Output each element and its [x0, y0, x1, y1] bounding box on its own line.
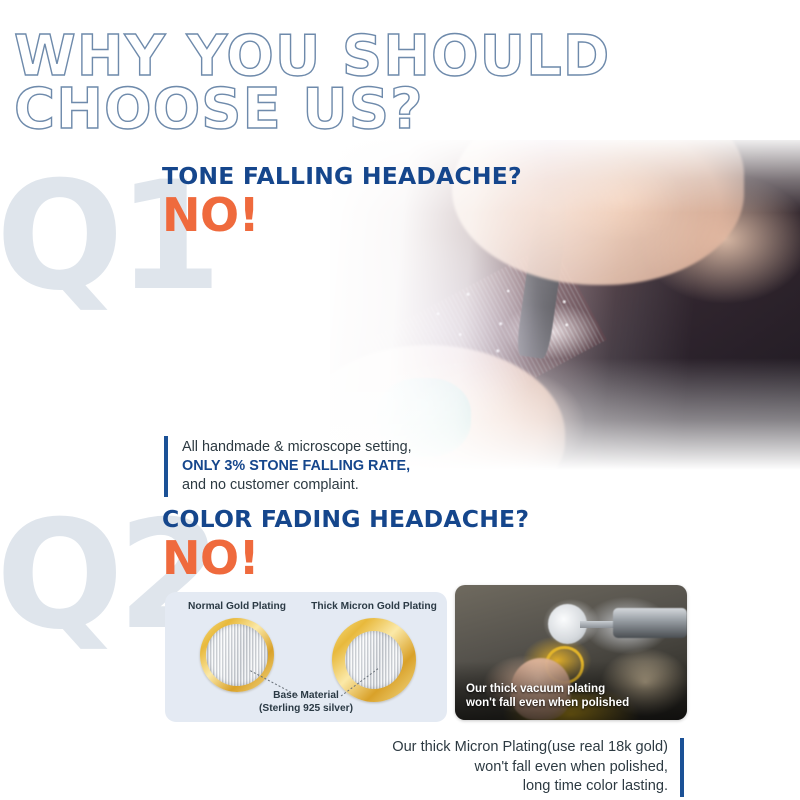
q2-bottom-caption: Our thick Micron Plating(use real 18k go…: [392, 738, 684, 797]
gold-plating-comparison-panel: Normal Gold Plating Thick Micron Gold Pl…: [165, 592, 447, 722]
photo-tool-shaft-detail: [580, 621, 617, 628]
q1-quote-line-1: All handmade & microscope setting,: [182, 438, 412, 457]
photo-handpiece-detail: [613, 608, 687, 638]
infographic-canvas: WHY YOU SHOULD CHOOSE US? Q1 TONE FALLIN…: [0, 0, 800, 800]
q1-heading-block: TONE FALLING HEADACHE? NO!: [162, 162, 522, 238]
section-q2: Q2 COLOR FADING HEADACHE? NO! Normal Gol…: [0, 495, 800, 800]
base-material-label: Base Material (Sterling 925 silver): [165, 690, 447, 715]
q2-title: COLOR FADING HEADACHE?: [162, 505, 529, 533]
q1-quote-block: All handmade & microscope setting, ONLY …: [164, 436, 412, 497]
q1-title: TONE FALLING HEADACHE?: [162, 162, 522, 190]
q2-answer: NO!: [162, 537, 529, 581]
bottom-caption-line-3: long time color lasting.: [392, 777, 668, 797]
q2-heading-block: COLOR FADING HEADACHE? NO!: [162, 505, 529, 581]
bottom-caption-line-2: won't fall even when polished,: [392, 758, 668, 778]
q1-answer: NO!: [162, 194, 522, 238]
q1-quote-line-2: ONLY 3% STONE FALLING RATE,: [182, 457, 412, 476]
photo-caption: Our thick vacuum plating won't fall even…: [466, 682, 629, 711]
section-q1: Q1 TONE FALLING HEADACHE? NO! All handma…: [0, 140, 800, 475]
bottom-caption-line-1: Our thick Micron Plating(use real 18k go…: [392, 738, 668, 758]
ring-polishing-photo: Our thick vacuum plating won't fall even…: [455, 585, 687, 720]
page-headline: WHY YOU SHOULD CHOOSE US?: [14, 30, 754, 136]
q1-quote-line-3: and no customer complaint.: [182, 476, 412, 495]
